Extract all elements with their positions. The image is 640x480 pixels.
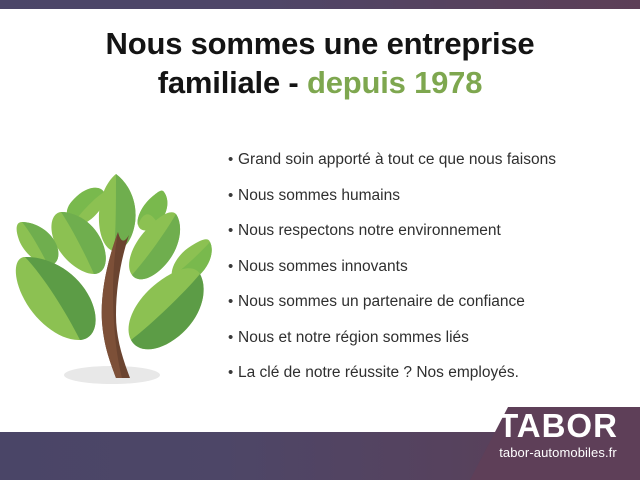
title-line-1: Nous sommes une entreprise — [0, 26, 640, 61]
list-item: • Nous et notre région sommes liés — [228, 328, 628, 347]
bullet-marker-icon: • — [228, 150, 238, 169]
list-item-label: Nous sommes un partenaire de confiance — [238, 292, 525, 311]
slide-canvas: Nous sommes une entreprise familiale - d… — [0, 0, 640, 480]
list-item-label: Nous respectons notre environnement — [238, 221, 501, 240]
bullet-marker-icon: • — [228, 257, 238, 276]
list-item-label: La clé de notre réussite ? Nos employés. — [238, 363, 519, 382]
bullet-marker-icon: • — [228, 186, 238, 205]
bullet-list: • Grand soin apporté à tout ce que nous … — [228, 150, 628, 399]
list-item: • Nous sommes humains — [228, 186, 628, 205]
list-item-label: Nous et notre région sommes liés — [238, 328, 469, 347]
brand-logo[interactable]: TABOR tabor-automobiles.fr — [476, 408, 640, 472]
list-item: • Nous sommes innovants — [228, 257, 628, 276]
tree-trunk — [102, 232, 130, 378]
bullet-marker-icon: • — [228, 292, 238, 311]
tree-illustration — [12, 152, 217, 390]
page-title: Nous sommes une entreprise familiale - d… — [0, 26, 640, 101]
tree-shadow-ellipse — [64, 366, 160, 384]
list-item: • La clé de notre réussite ? Nos employé… — [228, 363, 628, 382]
brand-logo-tagline: tabor-automobiles.fr — [476, 445, 640, 461]
title-line-2-plain: familiale - — [158, 65, 307, 100]
list-item-label: Nous sommes innovants — [238, 257, 408, 276]
leaf-left-upper — [51, 212, 105, 274]
list-item-label: Grand soin apporté à tout ce que nous fa… — [238, 150, 556, 169]
brand-logo-wordmark: TABOR — [476, 408, 640, 444]
list-item: • Nous sommes un partenaire de confiance — [228, 292, 628, 311]
title-line-2: familiale - depuis 1978 — [0, 65, 640, 100]
list-item: • Nous respectons notre environnement — [228, 221, 628, 240]
bullet-marker-icon: • — [228, 363, 238, 382]
list-item: • Grand soin apporté à tout ce que nous … — [228, 150, 628, 169]
bullet-marker-icon: • — [228, 328, 238, 347]
top-accent-bar — [0, 0, 640, 9]
list-item-label: Nous sommes humains — [238, 186, 400, 205]
title-accent-year: depuis 1978 — [307, 65, 482, 100]
bullet-marker-icon: • — [228, 221, 238, 240]
leaf-right-lower — [129, 268, 204, 349]
